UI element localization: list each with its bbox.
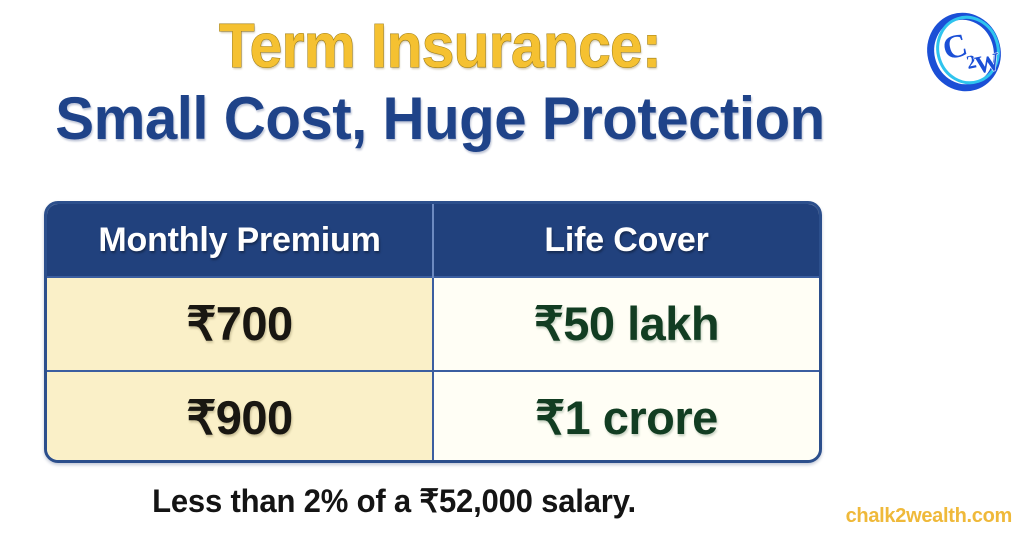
premium-cover-table: Monthly Premium Life Cover ₹700 ₹50 lakh… — [44, 201, 822, 463]
cell-premium: ₹900 — [47, 371, 433, 463]
page-title: Term Insurance: — [26, 12, 853, 82]
c2w-logo: C 2 W — [920, 6, 1010, 96]
cell-premium: ₹700 — [47, 277, 433, 371]
table-row: ₹700 ₹50 lakh — [47, 277, 819, 371]
table-row: ₹900 ₹1 crore — [47, 371, 819, 463]
column-header-life-cover: Life Cover — [433, 204, 819, 277]
column-header-monthly-premium: Monthly Premium — [47, 204, 433, 277]
website-brand: chalk2wealth.com — [846, 505, 1012, 528]
cell-cover: ₹50 lakh — [433, 277, 819, 371]
page-subtitle: Small Cost, Huge Protection — [13, 84, 867, 154]
footnote: Less than 2% of a ₹52,000 salary. — [55, 482, 734, 520]
cell-cover: ₹1 crore — [433, 371, 819, 463]
page-title-block: Term Insurance: Small Cost, Huge Protect… — [0, 12, 880, 154]
table-header-row: Monthly Premium Life Cover — [47, 204, 819, 277]
